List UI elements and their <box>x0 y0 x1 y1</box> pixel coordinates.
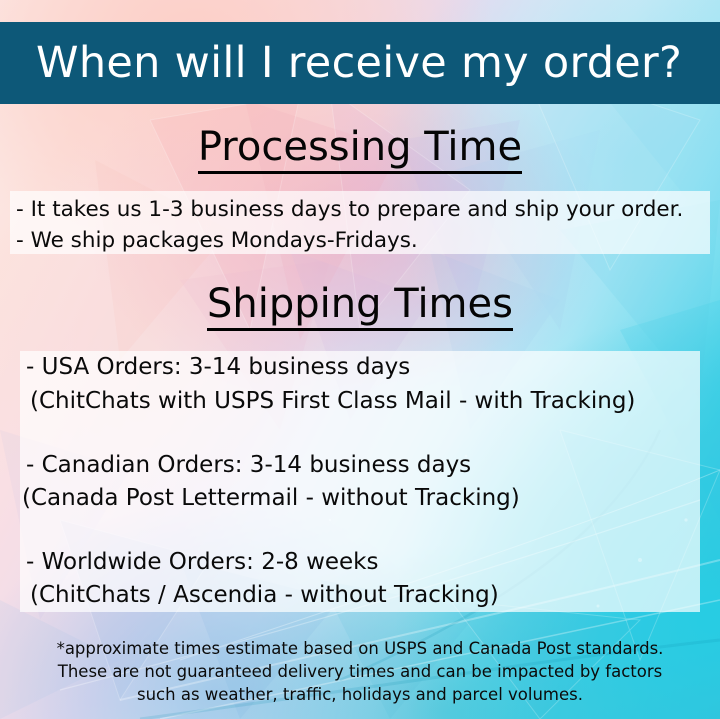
shipping-worldwide-duration: - Worldwide Orders: 2-8 weeks <box>26 551 378 574</box>
shipping-canada-duration: - Canadian Orders: 3-14 business days <box>26 454 471 477</box>
section-heading-processing: Processing Time <box>0 124 720 170</box>
shipping-usa-duration: - USA Orders: 3-14 business days <box>26 356 410 379</box>
shipping-usa-carrier: (ChitChats with USPS First Class Mail - … <box>30 390 635 413</box>
header-banner: When will I receive my order? <box>0 22 720 104</box>
shipping-canada-carrier: (Canada Post Lettermail - without Tracki… <box>22 487 520 510</box>
processing-line-2: - We ship packages Mondays-Fridays. <box>16 230 418 252</box>
section-heading-processing-text: Processing Time <box>198 124 522 174</box>
section-heading-shipping: Shipping Times <box>0 281 720 327</box>
shipping-worldwide-carrier: (ChitChats / Ascendia - without Tracking… <box>30 584 499 607</box>
faq-poster: When will I receive my order? Processing… <box>0 0 720 719</box>
processing-line-1: - It takes us 1-3 business days to prepa… <box>16 199 683 221</box>
footer-disclaimer: *approximate times estimate based on USP… <box>0 637 720 706</box>
page-title: When will I receive my order? <box>0 38 682 88</box>
section-heading-shipping-text: Shipping Times <box>207 281 513 331</box>
footer-line-3: such as weather, traffic, holidays and p… <box>0 683 720 706</box>
footer-line-1: *approximate times estimate based on USP… <box>0 637 720 660</box>
footer-line-2: These are not guaranteed delivery times … <box>0 660 720 683</box>
